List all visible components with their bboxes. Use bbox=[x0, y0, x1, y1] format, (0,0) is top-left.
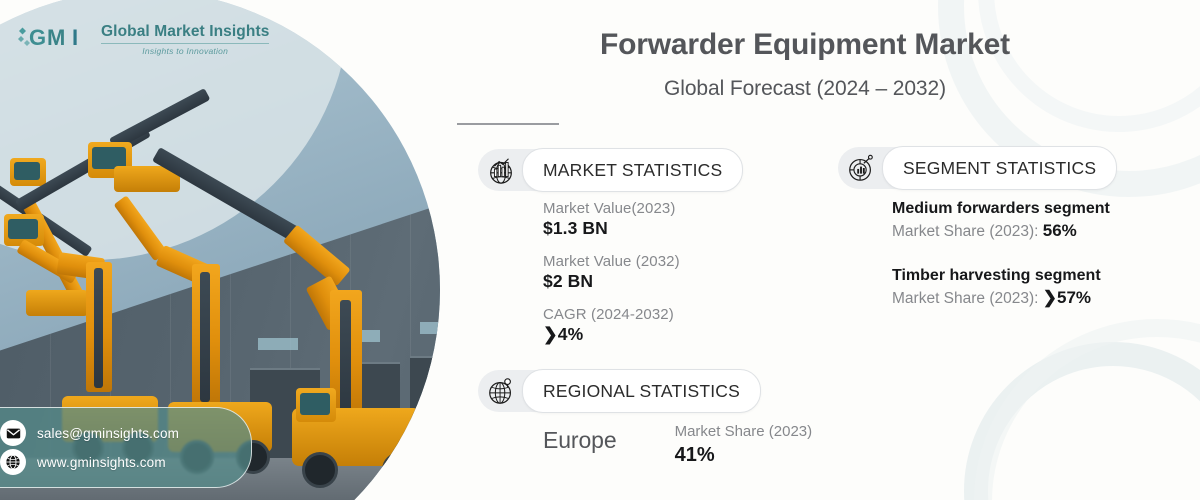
gmi-logo-icon: G M I bbox=[16, 22, 92, 57]
segment-2-share: Market Share (2023): ❯57% bbox=[892, 288, 1110, 308]
cagr-value: ❯4% bbox=[543, 324, 680, 345]
brand-tagline: Insights to Innovation bbox=[101, 47, 269, 56]
segment-1-share-value: 56% bbox=[1043, 221, 1077, 240]
region-share-value: 41% bbox=[675, 444, 813, 467]
brand-logo-text: Global Market Insights Insights to Innov… bbox=[101, 24, 269, 56]
contact-email-row[interactable]: sales@gminsights.com bbox=[0, 420, 241, 446]
pie-chart-target-icon bbox=[844, 151, 878, 185]
svg-text:G: G bbox=[29, 25, 46, 50]
contact-panel: sales@gminsights.com www.gminsights.com bbox=[0, 407, 252, 488]
brand-divider bbox=[101, 43, 269, 44]
market-value-2032-value: $2 BN bbox=[543, 271, 680, 292]
title-divider bbox=[457, 123, 559, 125]
region-name: Europe bbox=[543, 427, 617, 454]
globe-icon bbox=[0, 449, 26, 475]
segment-2-title: Timber harvesting segment bbox=[892, 267, 1110, 285]
svg-text:I: I bbox=[72, 25, 78, 50]
page-title: Forwarder Equipment Market bbox=[455, 28, 1155, 63]
market-statistics-pill[interactable]: MARKET STATISTICS bbox=[478, 149, 743, 191]
market-value-2023-value: $1.3 BN bbox=[543, 218, 680, 239]
cagr-label: CAGR (2024-2032) bbox=[543, 306, 680, 323]
globe-bar-chart-icon bbox=[484, 153, 518, 187]
page-subtitle: Global Forecast (2024 – 2032) bbox=[455, 77, 1155, 101]
region-share-block: Market Share (2023) 41% bbox=[675, 423, 813, 467]
regional-statistics-pill[interactable]: REGIONAL STATISTICS bbox=[478, 370, 761, 412]
svg-text:M: M bbox=[47, 25, 65, 50]
segment-statistics-body: Medium forwarders segment Market Share (… bbox=[892, 200, 1110, 334]
regional-statistics-heading: REGIONAL STATISTICS bbox=[522, 369, 761, 413]
region-share-label: Market Share (2023) bbox=[675, 423, 813, 440]
envelope-icon bbox=[0, 420, 26, 446]
dock-window bbox=[258, 338, 298, 350]
decorative-arc-bottom-right-outer bbox=[974, 319, 1200, 500]
brand-name: Global Market Insights bbox=[101, 23, 269, 40]
hero-photo-panel: sales@gminsights.com www.gminsights.com bbox=[0, 0, 460, 500]
market-statistics-body: Market Value(2023) $1.3 BN Market Value … bbox=[543, 200, 680, 359]
market-statistics-heading: MARKET STATISTICS bbox=[522, 148, 743, 192]
regional-statistics-body: Europe Market Share (2023) 41% bbox=[543, 423, 812, 467]
segment-2-share-value: ❯57% bbox=[1043, 288, 1091, 307]
market-value-2023-label: Market Value(2023) bbox=[543, 200, 680, 217]
segment-statistics-heading: SEGMENT STATISTICS bbox=[882, 146, 1117, 190]
segment-statistics-pill[interactable]: SEGMENT STATISTICS bbox=[838, 147, 1117, 189]
contact-email-text: sales@gminsights.com bbox=[37, 426, 179, 441]
decorative-arc-bottom-right-inner bbox=[964, 342, 1200, 500]
segment-1-share-label: Market Share (2023): bbox=[892, 223, 1043, 240]
brand-logo[interactable]: G M I Global Market Insights Insights to… bbox=[16, 22, 269, 57]
segment-2-share-label: Market Share (2023): bbox=[892, 290, 1043, 307]
contact-website-text: www.gminsights.com bbox=[37, 455, 166, 470]
market-value-2032-label: Market Value (2032) bbox=[543, 253, 680, 270]
globe-pin-icon bbox=[484, 374, 518, 408]
header-block: Forwarder Equipment Market Global Foreca… bbox=[455, 28, 1155, 125]
segment-1-title: Medium forwarders segment bbox=[892, 200, 1110, 218]
dock-window bbox=[420, 322, 460, 334]
loading-dock bbox=[410, 356, 460, 462]
contact-website-row[interactable]: www.gminsights.com bbox=[0, 449, 241, 475]
infographic-canvas: sales@gminsights.com www.gminsights.com bbox=[0, 0, 1200, 500]
segment-1-share: Market Share (2023): 56% bbox=[892, 221, 1110, 241]
